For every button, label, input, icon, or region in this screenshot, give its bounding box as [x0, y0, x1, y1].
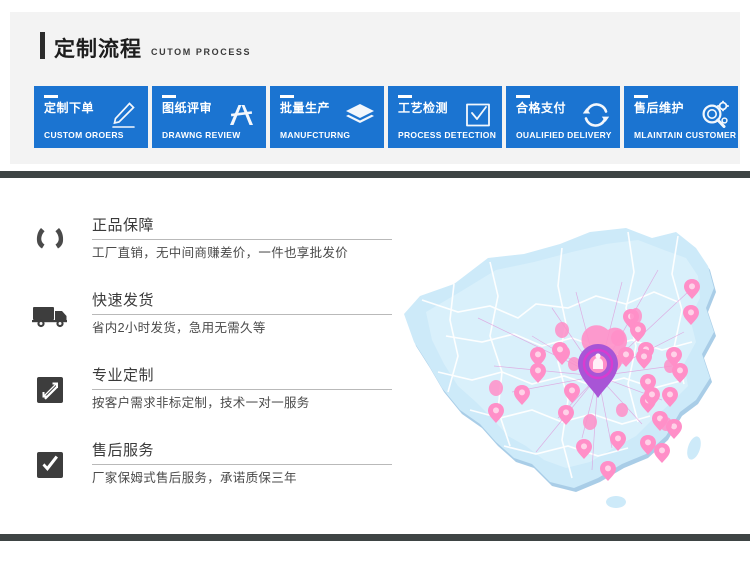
feature-desc: 工厂直销，无中间商赚差价，一件也享批发价 — [92, 240, 392, 261]
checkbox-icon — [461, 100, 495, 130]
page-root: 定制流程 CUTOM PROCESS 定制下单 CUSTOM OROERS — [0, 0, 750, 573]
layers-icon — [343, 100, 377, 130]
divider-bar-top — [0, 171, 750, 178]
protecting-hands-icon — [28, 220, 74, 260]
process-card-manufacturing[interactable]: 批量生产 MANUFCTURNG — [270, 86, 384, 148]
china-map-svg — [386, 196, 746, 526]
divider-bar-bottom — [0, 534, 750, 541]
service-feature-list: 正品保障 工厂直销，无中间商赚差价，一件也享批发价 快速发货 省内2小时发 — [24, 206, 414, 506]
compass-drafting-icon — [225, 100, 259, 130]
feature-text-block: 专业定制 按客户需求非标定制，技术一对一服务 — [92, 366, 392, 412]
feature-item-professional-customization: 专业定制 按客户需求非标定制，技术一对一服务 — [24, 356, 414, 431]
pencil-icon — [107, 100, 141, 130]
custom-process-panel: 定制流程 CUTOM PROCESS 定制下单 CUSTOM OROERS — [10, 12, 740, 164]
card-dash — [634, 95, 648, 98]
card-dash — [280, 95, 294, 98]
feature-desc: 省内2小时发货，急用无需久等 — [92, 315, 392, 336]
checkmark-box-icon — [28, 445, 74, 485]
card-title-en: OUALIFIED DELIVERY — [516, 130, 612, 140]
refresh-cycle-icon — [579, 100, 613, 130]
card-title-en: CUSTOM OROERS — [44, 130, 124, 140]
process-card-drawing-review[interactable]: 图纸评审 DRAWNG REVIEW — [152, 86, 266, 148]
process-card-qualified-delivery[interactable]: 合格支付 OUALIFIED DELIVERY — [506, 86, 620, 148]
feature-text-block: 售后服务 厂家保姆式售后服务，承诺质保三年 — [92, 441, 392, 487]
title-accent-bar — [40, 32, 45, 59]
page-title: 定制流程 CUTOM PROCESS — [40, 32, 251, 60]
title-cn: 定制流程 — [54, 39, 142, 60]
feature-text-block: 快速发货 省内2小时发货，急用无需久等 — [92, 291, 392, 337]
card-dash — [516, 95, 530, 98]
feature-item-fast-shipping: 快速发货 省内2小时发货，急用无需久等 — [24, 281, 414, 356]
card-dash — [162, 95, 176, 98]
feature-item-authentic-guarantee: 正品保障 工厂直销，无中间商赚差价，一件也享批发价 — [24, 206, 414, 281]
process-card-list: 定制下单 CUSTOM OROERS 图纸评审 DRAWNG REVIEW — [34, 86, 738, 148]
magnifier-gear-icon — [697, 100, 731, 130]
process-card-maintain-customer[interactable]: 售后维护 MLAINTAIN CUSTOMER — [624, 86, 738, 148]
delivery-truck-icon — [28, 295, 74, 335]
feature-title: 快速发货 — [92, 291, 392, 315]
resize-arrow-icon — [28, 370, 74, 410]
china-coverage-map — [386, 196, 746, 526]
feature-text-block: 正品保障 工厂直销，无中间商赚差价，一件也享批发价 — [92, 216, 392, 262]
feature-title: 正品保障 — [92, 216, 392, 240]
feature-title: 专业定制 — [92, 366, 392, 390]
title-en: CUTOM PROCESS — [151, 47, 251, 57]
feature-title: 售后服务 — [92, 441, 392, 465]
process-card-process-detection[interactable]: 工艺检测 PROCESS DETECTION — [388, 86, 502, 148]
feature-desc: 按客户需求非标定制，技术一对一服务 — [92, 390, 392, 411]
card-title-en: MANUFCTURNG — [280, 130, 350, 140]
card-dash — [44, 95, 58, 98]
feature-item-after-sales-service: 售后服务 厂家保姆式售后服务，承诺质保三年 — [24, 431, 414, 506]
card-dash — [398, 95, 412, 98]
feature-desc: 厂家保姆式售后服务，承诺质保三年 — [92, 465, 392, 486]
card-title-en: PROCESS DETECTION — [398, 130, 496, 140]
card-title-en: MLAINTAIN CUSTOMER — [634, 130, 736, 140]
process-card-custom-orders[interactable]: 定制下单 CUSTOM OROERS — [34, 86, 148, 148]
card-title-en: DRAWNG REVIEW — [162, 130, 241, 140]
